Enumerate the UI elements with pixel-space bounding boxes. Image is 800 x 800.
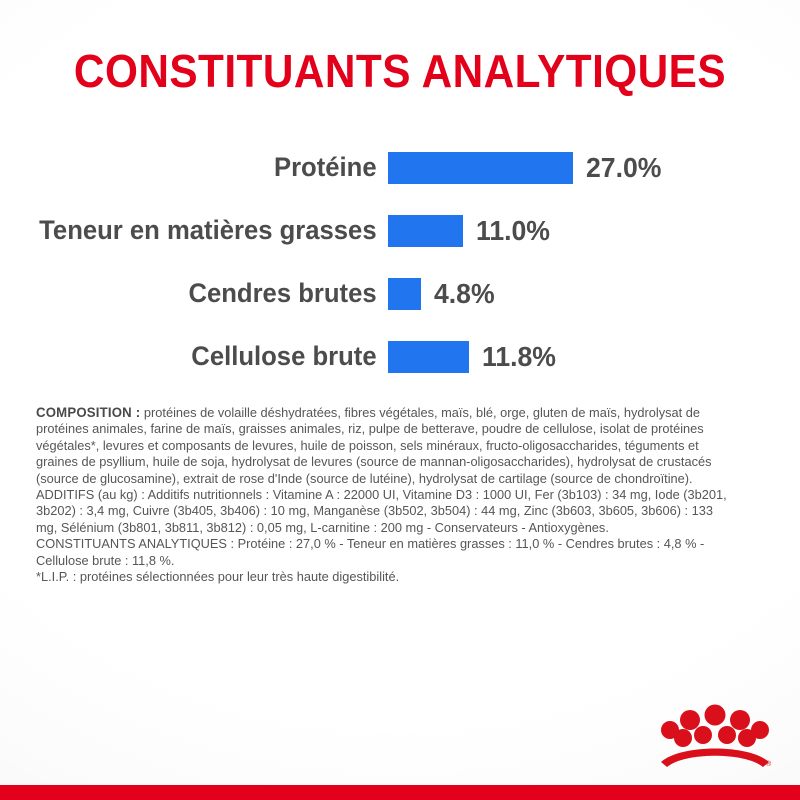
bar-fill-matieres-grasses [388, 215, 463, 247]
bar-value-cellulose-brute: 11.8% [482, 341, 556, 373]
composition-heading: COMPOSITION : [36, 405, 140, 420]
product-nutrition-panel: CONSTITUANTS ANALYTIQUES Protéine 27.0% … [0, 0, 800, 800]
bar-value-cendres-brutes: 4.8% [434, 278, 495, 310]
bar-fill-cellulose-brute [388, 341, 469, 373]
additives-paragraph: ADDITIFS (au kg) : Additifs nutritionnel… [36, 487, 727, 536]
bar-label-cellulose-brute: Cellulose brute [19, 341, 388, 372]
bar-label-cendres-brutes: Cendres brutes [19, 278, 388, 309]
page-title: CONSTITUANTS ANALYTIQUES [32, 44, 768, 98]
bar-row: Cendres brutes 4.8% [0, 262, 800, 325]
bar-track: 11.8% [388, 341, 800, 373]
bar-fill-cendres-brutes [388, 278, 421, 310]
bar-label-matieres-grasses: Teneur en matières grasses [19, 215, 388, 246]
composition-text-block: COMPOSITION : protéines de volaille désh… [36, 405, 727, 585]
bar-track: 27.0% [388, 152, 800, 184]
bar-row: Teneur en matières grasses 11.0% [0, 199, 800, 262]
bar-fill-proteine [388, 152, 573, 184]
bar-label-proteine: Protéine [19, 152, 388, 183]
bar-value-proteine: 27.0% [586, 152, 661, 184]
bar-track: 11.0% [388, 215, 800, 247]
bar-value-matieres-grasses: 11.0% [476, 215, 550, 247]
analytical-constituents-paragraph: CONSTITUANTS ANALYTIQUES : Protéine : 27… [36, 536, 727, 569]
registered-trademark-symbol: ® [766, 760, 772, 768]
bar-track: 4.8% [388, 278, 800, 310]
bar-row: Cellulose brute 11.8% [0, 325, 800, 388]
lip-footnote: *L.I.P. : protéines sélectionnées pour l… [36, 569, 727, 585]
analytical-constituents-bar-chart: Protéine 27.0% Teneur en matières grasse… [0, 136, 800, 388]
royal-canin-crown-logo: ® [655, 700, 775, 770]
bottom-red-bar [0, 785, 800, 800]
composition-paragraph: COMPOSITION : protéines de volaille désh… [36, 405, 727, 487]
bar-row: Protéine 27.0% [0, 136, 800, 199]
